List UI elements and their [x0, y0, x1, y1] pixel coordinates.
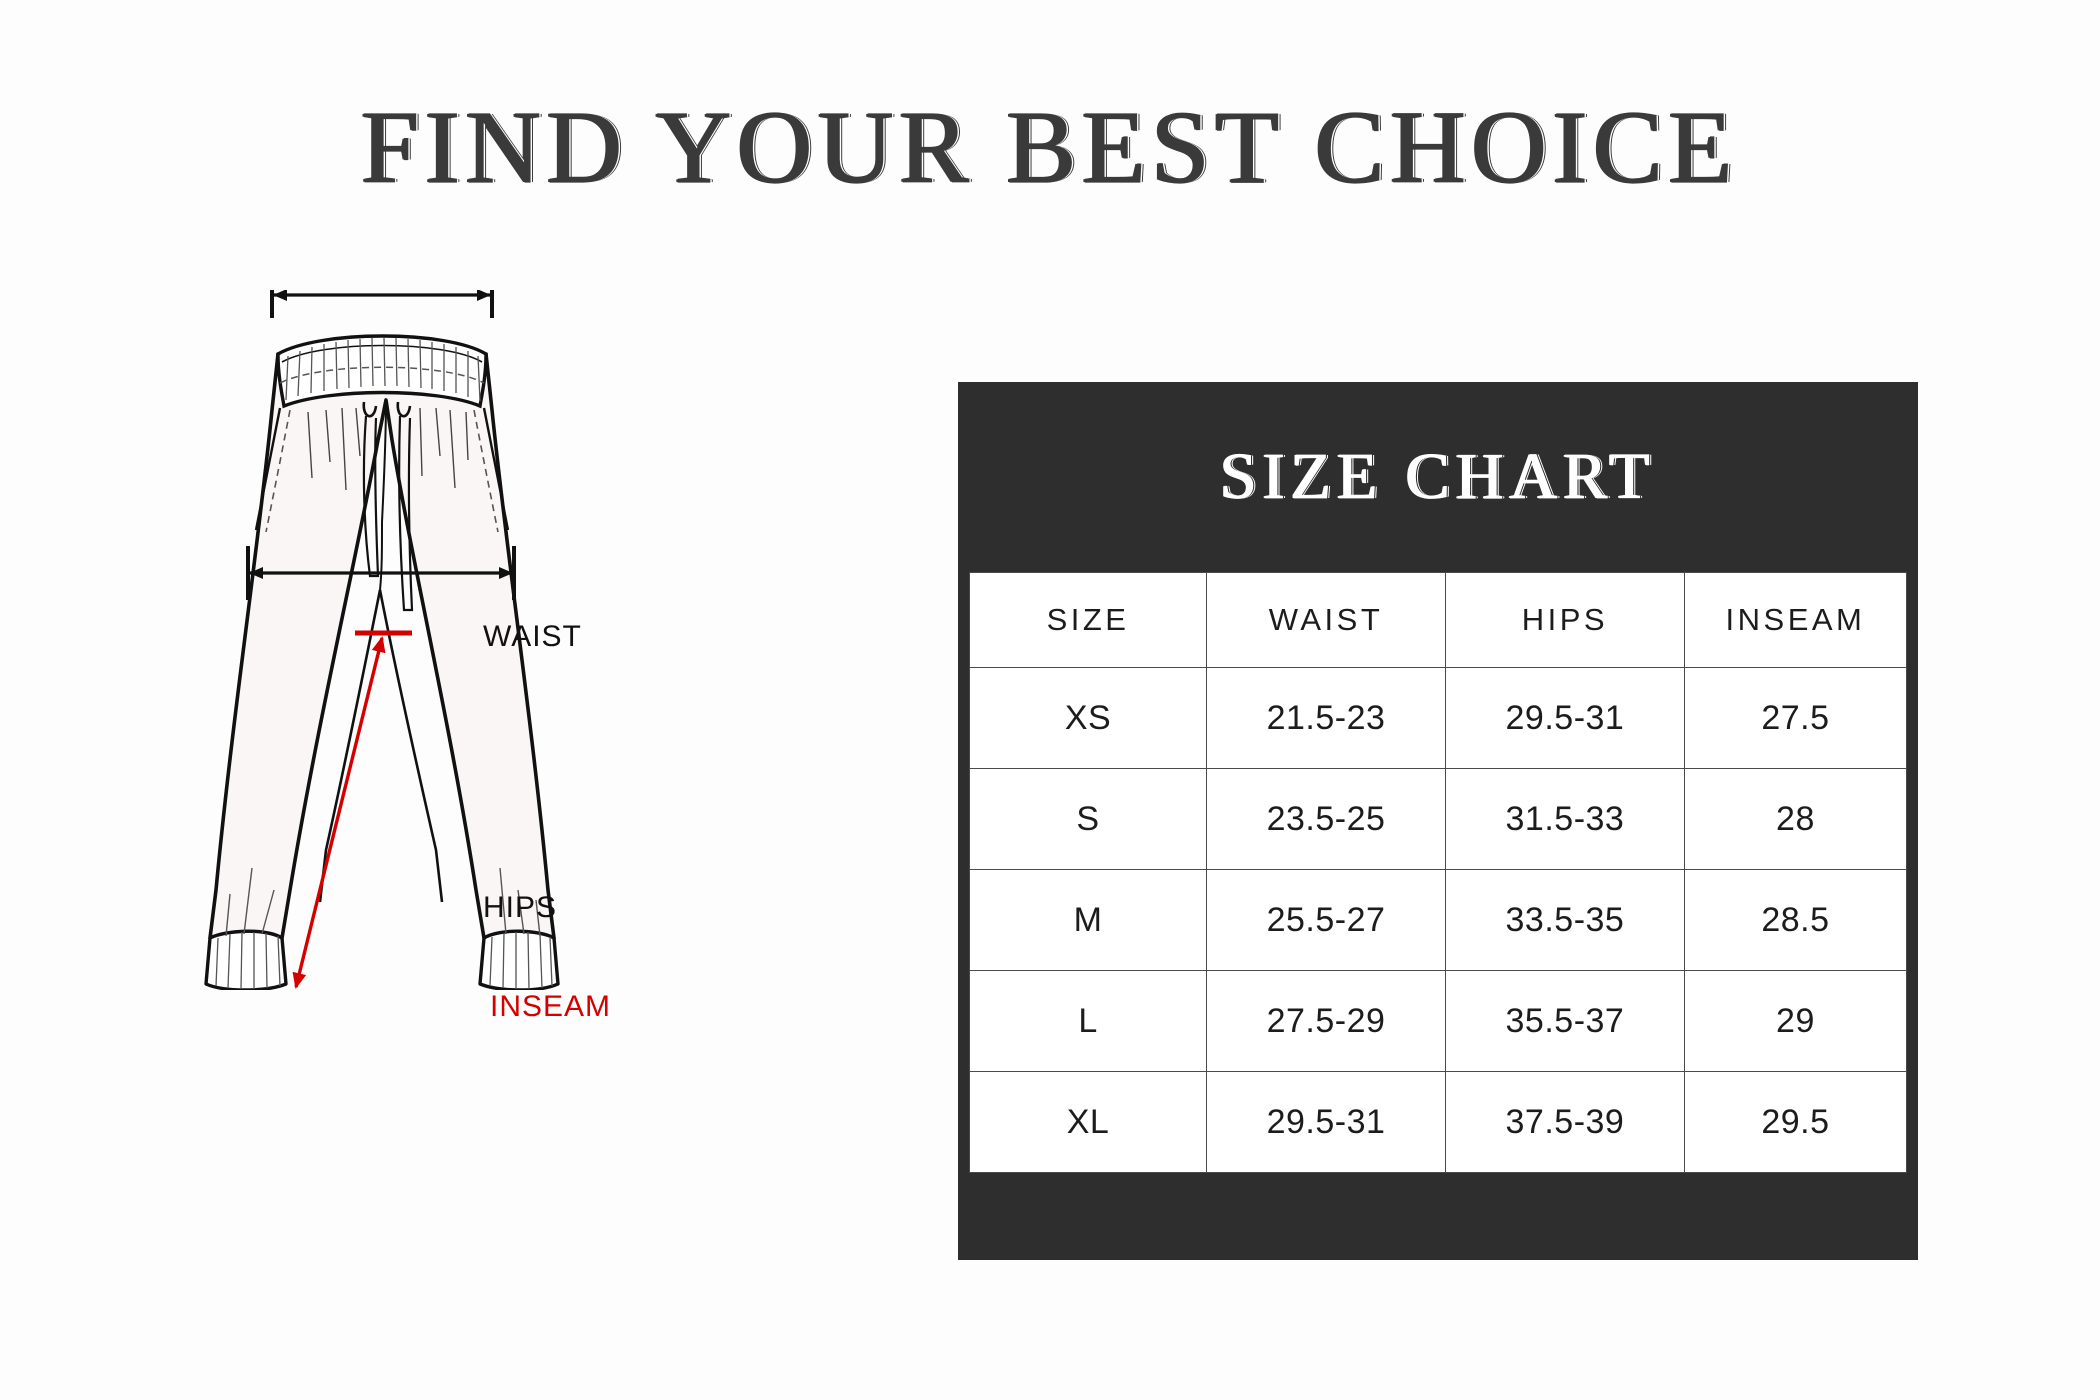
hips-label: HIPS	[483, 891, 557, 925]
table-row: M 25.5-27 33.5-35 28.5	[970, 870, 1907, 971]
cell-inseam: 28.5	[1684, 870, 1906, 971]
size-chart-table: SIZE WAIST HIPS INSEAM XS 21.5-23 29.5-3…	[969, 572, 1907, 1173]
cell-waist: 25.5-27	[1207, 870, 1446, 971]
size-chart-title: SIZE CHART	[969, 382, 1907, 572]
cell-hips: 37.5-39	[1445, 1072, 1684, 1173]
cell-size: XS	[970, 668, 1207, 769]
table-row: L 27.5-29 35.5-37 29	[970, 971, 1907, 1072]
cell-size: XL	[970, 1072, 1207, 1173]
cell-hips: 33.5-35	[1445, 870, 1684, 971]
page-title: FIND YOUR BEST CHOICE	[0, 96, 2100, 200]
waist-dimension	[272, 290, 492, 318]
cell-waist: 29.5-31	[1207, 1072, 1446, 1173]
column-header-inseam: INSEAM	[1684, 573, 1906, 668]
cell-size: M	[970, 870, 1207, 971]
column-header-size: SIZE	[970, 573, 1207, 668]
cell-inseam: 29	[1684, 971, 1906, 1072]
inseam-label: INSEAM	[490, 990, 611, 1024]
cell-size: L	[970, 971, 1207, 1072]
cell-hips: 31.5-33	[1445, 769, 1684, 870]
cell-inseam: 28	[1684, 769, 1906, 870]
table-row: XL 29.5-31 37.5-39 29.5	[970, 1072, 1907, 1173]
column-header-waist: WAIST	[1207, 573, 1446, 668]
cell-hips: 29.5-31	[1445, 668, 1684, 769]
column-header-hips: HIPS	[1445, 573, 1684, 668]
table-row: S 23.5-25 31.5-33 28	[970, 769, 1907, 870]
cell-waist: 23.5-25	[1207, 769, 1446, 870]
size-chart-page: FIND YOUR BEST CHOICE	[0, 0, 2100, 1400]
cell-inseam: 27.5	[1684, 668, 1906, 769]
table-row: XS 21.5-23 29.5-31 27.5	[970, 668, 1907, 769]
cell-waist: 27.5-29	[1207, 971, 1446, 1072]
pants-illustration: WAIST HIPS INSEAM	[150, 290, 770, 990]
waist-label: WAIST	[483, 620, 582, 654]
cell-inseam: 29.5	[1684, 1072, 1906, 1173]
cell-hips: 35.5-37	[1445, 971, 1684, 1072]
cell-size: S	[970, 769, 1207, 870]
table-header-row: SIZE WAIST HIPS INSEAM	[970, 573, 1907, 668]
pants-technical-drawing-svg	[150, 290, 770, 990]
size-chart-panel: SIZE CHART SIZE WAIST HIPS INSEAM XS 21.…	[958, 382, 1918, 1260]
cell-waist: 21.5-23	[1207, 668, 1446, 769]
